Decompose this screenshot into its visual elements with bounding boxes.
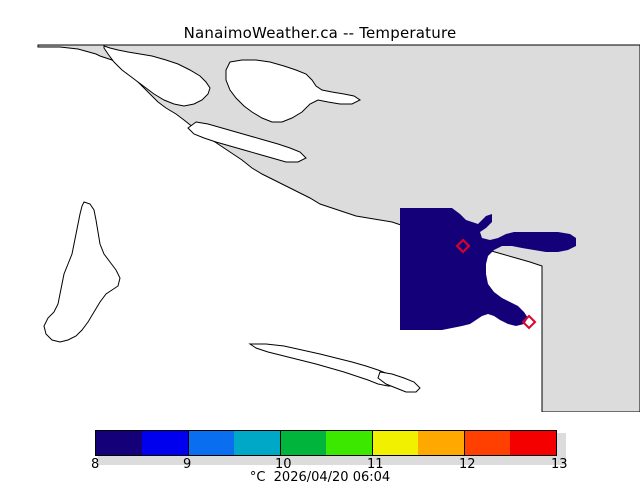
colorbar-band-4 bbox=[280, 431, 326, 455]
colorbar-separator-6 bbox=[372, 431, 373, 455]
colorbar-shadow-right bbox=[557, 433, 566, 457]
colorbar-separator-2 bbox=[188, 431, 189, 455]
colorbar-panel[interactable]: 8910111213 °C 2026/04/20 06:04 bbox=[0, 424, 640, 480]
colorbar-band-1 bbox=[142, 431, 188, 455]
colorbar-shadow-bottom bbox=[98, 456, 566, 465]
colorbar-separator-4 bbox=[280, 431, 281, 455]
colorbar-band-8 bbox=[464, 431, 510, 455]
colorbar-separator-8 bbox=[464, 431, 465, 455]
colorbar-band-9 bbox=[510, 431, 556, 455]
weather-map-page: NanaimoWeather.ca -- Temperature bbox=[0, 0, 640, 480]
colorbar-band-0 bbox=[96, 431, 142, 455]
colorbar-band-7 bbox=[418, 431, 464, 455]
colorbar-band-2 bbox=[188, 431, 234, 455]
colorbar-band-6 bbox=[372, 431, 418, 455]
map-panel[interactable] bbox=[0, 42, 640, 412]
colorbar-band-5 bbox=[326, 431, 372, 455]
page-title: NanaimoWeather.ca -- Temperature bbox=[0, 24, 640, 42]
map-canvas[interactable] bbox=[0, 42, 640, 412]
colorbar-band-3 bbox=[234, 431, 280, 455]
colorbar-caption: °C 2026/04/20 06:04 bbox=[0, 470, 640, 485]
colorbar-scale[interactable] bbox=[95, 430, 557, 456]
